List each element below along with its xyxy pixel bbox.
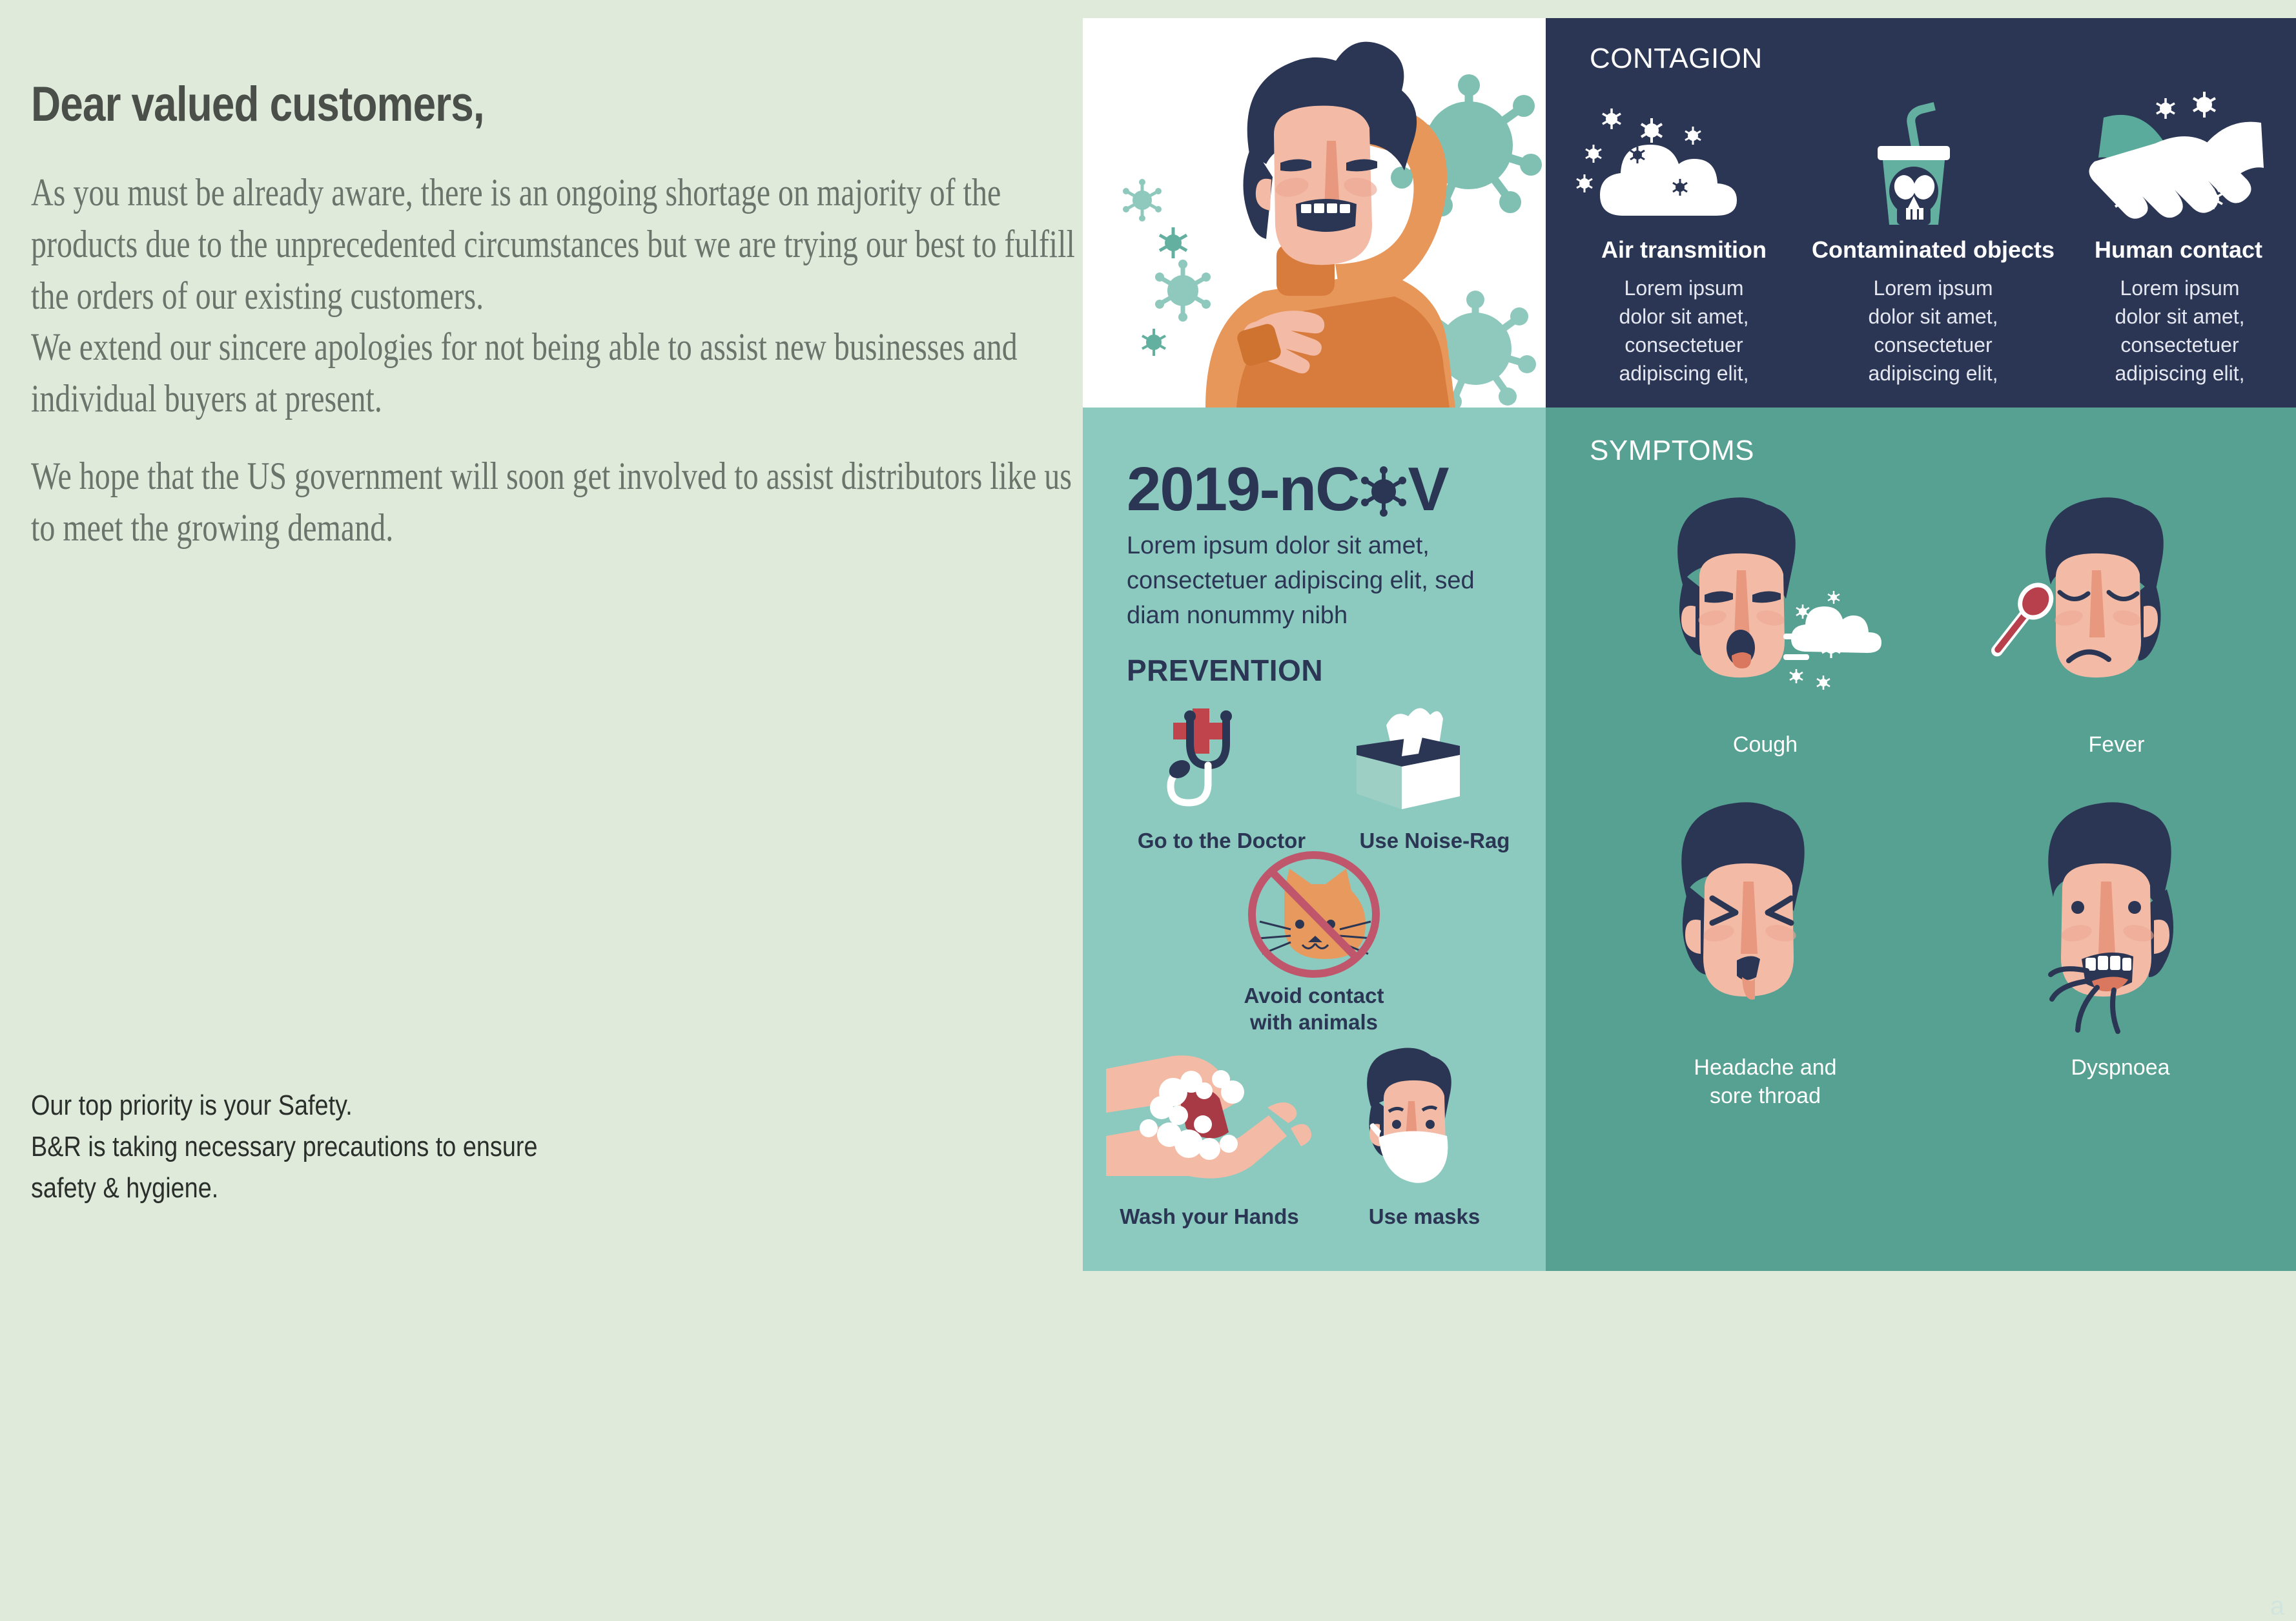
slide-canvas: Dear valued customers, As you must be al… bbox=[0, 0, 2296, 1292]
prevention-panel: 2019-nC V Lorem ipsum dolor sit amet, co… bbox=[1083, 408, 1546, 1271]
contagion-item-body-1: Lorem ipsum dolor sit amet, consectetuer… bbox=[1830, 274, 2036, 388]
prevention-item-label-2: Avoid contact with animals bbox=[1178, 982, 1450, 1036]
contagion-item-title-1: Contaminated objects bbox=[1804, 236, 2062, 263]
ncov-title: 2019-nC V bbox=[1127, 454, 1448, 525]
virus-o-icon bbox=[1360, 466, 1408, 513]
contaminated-cup-skull-icon bbox=[1849, 83, 1978, 231]
letter-title: Dear valued customers, bbox=[31, 76, 899, 132]
ncov-title-pre: 2019-nC bbox=[1127, 454, 1359, 525]
symptoms-heading: SYMPTOMS bbox=[1590, 435, 1754, 467]
contagion-heading: CONTAGION bbox=[1590, 43, 1763, 75]
ncov-title-post: V bbox=[1408, 454, 1448, 525]
symptom-label-1: Fever bbox=[1987, 730, 2246, 759]
letter-footer: Our top priority is your Safety. B&R is … bbox=[31, 1085, 538, 1210]
symptom-label-2: Headache and sore throad bbox=[1630, 1053, 1901, 1110]
contagion-item-body-2: Lorem ipsum dolor sit amet, consectetuer… bbox=[2076, 274, 2283, 388]
thermometer-face-icon bbox=[1985, 489, 2243, 715]
dyspnoea-face-icon bbox=[1991, 792, 2250, 1031]
letter-paragraph-2: We hope that the US government will soon… bbox=[31, 451, 1080, 554]
cloud-virus-icon bbox=[1582, 101, 1776, 230]
prevention-item-label-3: Wash your Hands bbox=[1087, 1203, 1332, 1230]
prevention-item-label-1: Use Noise-Rag bbox=[1328, 827, 1541, 854]
tissue-box-icon bbox=[1342, 706, 1471, 812]
stethoscope-cross-icon bbox=[1159, 708, 1282, 818]
prevention-item-label-4: Use masks bbox=[1331, 1203, 1518, 1230]
coughing-face-icon bbox=[1640, 489, 1898, 715]
ncov-description: Lorem ipsum dolor sit amet, consectetuer… bbox=[1127, 529, 1501, 634]
face-mask-icon bbox=[1341, 1047, 1470, 1186]
symptom-label-3: Dyspnoea bbox=[1985, 1053, 2256, 1082]
prevention-item-label-0: Go to the Doctor bbox=[1109, 827, 1335, 854]
prevention-heading: PREVENTION bbox=[1127, 653, 1323, 688]
no-cat-icon bbox=[1243, 853, 1385, 976]
contagion-item-title-0: Air transmition bbox=[1568, 236, 1800, 263]
sick-man-illustration bbox=[1083, 18, 1546, 408]
letter-block: Dear valued customers, As you must be al… bbox=[31, 76, 1064, 554]
hero-panel bbox=[1083, 18, 1546, 408]
covid-infographic: CONTAGION bbox=[1083, 18, 2296, 1271]
washing-hands-icon bbox=[1106, 1053, 1313, 1182]
contagion-item-body-0: Lorem ipsum dolor sit amet, consectetuer… bbox=[1581, 274, 1787, 388]
handshake-virus-icon bbox=[2086, 97, 2279, 232]
symptoms-panel: SYMPTOMS bbox=[1546, 408, 2296, 1271]
headache-face-icon bbox=[1644, 792, 1902, 1031]
contagion-panel: CONTAGION bbox=[1546, 18, 2296, 408]
watermark: a bbox=[2270, 1592, 2284, 1621]
contagion-item-title-2: Human contact bbox=[2069, 236, 2288, 263]
letter-paragraph-1: As you must be already aware, there is a… bbox=[31, 167, 1080, 425]
symptom-label-0: Cough bbox=[1636, 730, 1894, 759]
